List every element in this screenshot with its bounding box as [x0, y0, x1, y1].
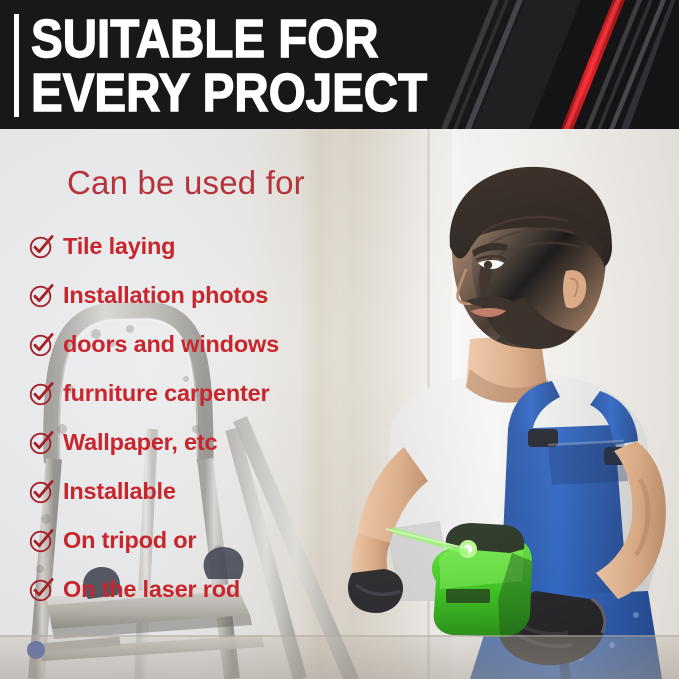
- check-circle-icon: [29, 528, 54, 553]
- check-circle-icon: [29, 332, 54, 357]
- check-circle-icon: [29, 283, 54, 308]
- list-item-label: doors and windows: [63, 332, 279, 357]
- list-item: Wallpaper, etc: [29, 418, 369, 467]
- list-item: Installation photos: [29, 271, 369, 320]
- check-circle-icon: [29, 430, 54, 455]
- list-item-label: Wallpaper, etc: [63, 430, 217, 455]
- headline: Can be used for: [67, 163, 305, 203]
- list-item-label: Tile laying: [63, 234, 175, 259]
- product-feature-poster: SUITABLE FOR EVERY PROJECT Can be used f…: [0, 0, 679, 679]
- list-item: Installable: [29, 467, 369, 516]
- list-item-label: On tripod or: [63, 528, 196, 553]
- list-item: doors and windows: [29, 320, 369, 369]
- header-banner: SUITABLE FOR EVERY PROJECT: [0, 0, 679, 129]
- title-accent-bar: [14, 14, 19, 117]
- check-circle-icon: [29, 577, 54, 602]
- check-circle-icon: [29, 479, 54, 504]
- feature-list: Tile laying Installation photos doors an…: [29, 222, 369, 614]
- list-item: On the laser rod: [29, 565, 369, 614]
- list-item-label: Installable: [63, 479, 176, 504]
- banner-title: SUITABLE FOR EVERY PROJECT: [31, 12, 445, 120]
- list-item-label: On the laser rod: [63, 577, 240, 602]
- list-item-label: furniture carpenter: [63, 381, 269, 406]
- check-circle-icon: [29, 381, 54, 406]
- list-item: Tile laying: [29, 222, 369, 271]
- list-item-label: Installation photos: [63, 283, 268, 308]
- list-item: furniture carpenter: [29, 369, 369, 418]
- floor: [0, 635, 679, 679]
- check-circle-icon: [29, 234, 54, 259]
- list-item: On tripod or: [29, 516, 369, 565]
